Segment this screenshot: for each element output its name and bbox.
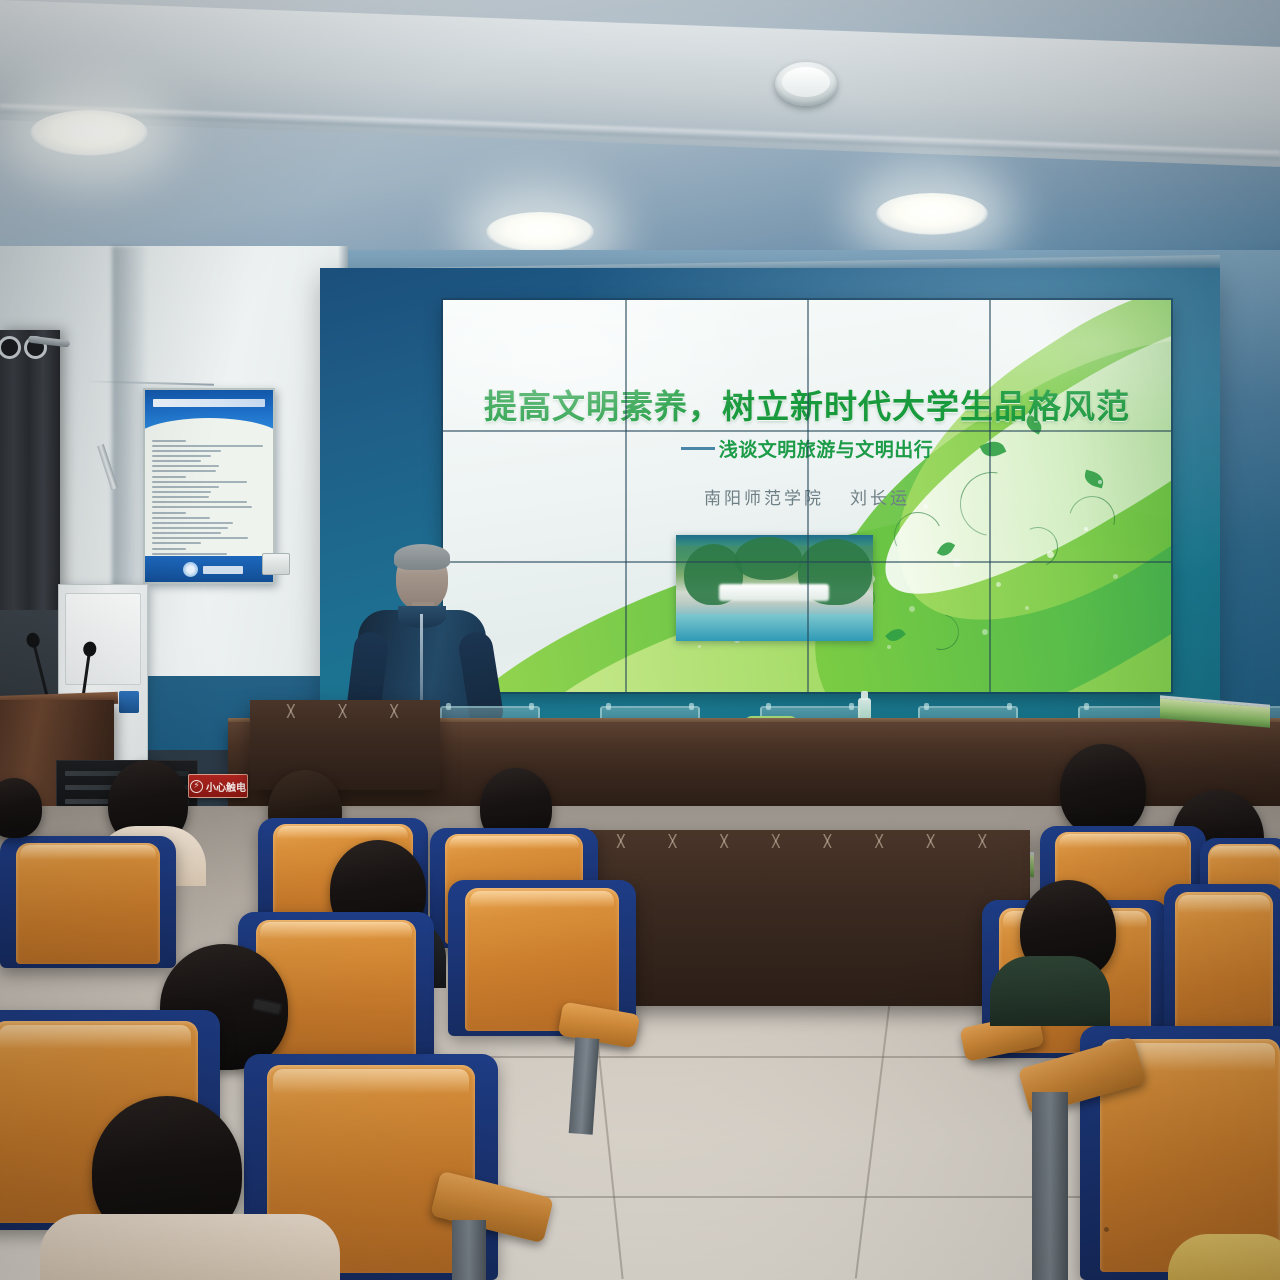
slide-byline: 南阳师范学院刘长运 bbox=[443, 484, 1171, 509]
audience-shoulders bbox=[40, 1214, 340, 1280]
bubble-icon bbox=[698, 645, 701, 648]
audience-head bbox=[1060, 744, 1146, 836]
poster-logo-icon bbox=[183, 562, 198, 577]
notice-board-poster[interactable] bbox=[143, 388, 275, 584]
seat-post bbox=[452, 1220, 486, 1280]
desk-trim-zigzag bbox=[250, 700, 440, 722]
poster-footer-band bbox=[145, 556, 273, 582]
bubble-icon bbox=[909, 606, 915, 612]
audience-shoulders bbox=[990, 956, 1110, 1026]
video-wall-display[interactable]: 提高文明素养，树立新时代大学生品格风范 浅谈文明旅游与文明出行 南阳师范学院刘长… bbox=[443, 300, 1171, 692]
wall-outlet[interactable] bbox=[262, 553, 290, 575]
poster-body-text bbox=[152, 436, 266, 554]
slide-institution: 南阳师范学院 bbox=[704, 489, 824, 509]
seat-post bbox=[1032, 1092, 1068, 1280]
audience-shoulders bbox=[1168, 1234, 1280, 1280]
slide-inset-photo bbox=[676, 535, 873, 641]
screen-glare bbox=[443, 300, 778, 457]
lecture-hall-scene: 提高文明素养，树立新时代大学生品格风范 浅谈文明旅游与文明出行 南阳师范学院刘长… bbox=[0, 0, 1280, 1280]
ceiling-downlight bbox=[486, 212, 594, 252]
bubble-icon bbox=[953, 559, 961, 567]
presentation-slide: 提高文明素养，树立新时代大学生品格风范 浅谈文明旅游与文明出行 南阳师范学院刘长… bbox=[443, 300, 1171, 692]
subtitle-dash-icon bbox=[681, 447, 715, 450]
desk-row bbox=[590, 830, 1030, 1006]
status-badge: ⚡ 小心触电 bbox=[188, 774, 248, 798]
poster-title-bar bbox=[153, 399, 265, 407]
bubble-icon bbox=[887, 645, 891, 649]
auditorium-seat[interactable] bbox=[1164, 884, 1280, 1048]
poster-header-band bbox=[145, 390, 273, 430]
desk-row bbox=[250, 700, 440, 790]
photo-water bbox=[676, 614, 873, 642]
ac-front-panel bbox=[65, 593, 141, 685]
presenter-hair bbox=[394, 544, 450, 570]
ceiling-downlight bbox=[876, 193, 988, 235]
photo-foliage bbox=[735, 537, 802, 579]
slide-title: 提高文明素养，树立新时代大学生品格风范 bbox=[443, 380, 1171, 428]
photo-waterfall bbox=[719, 584, 829, 601]
poster-logo-text bbox=[203, 566, 243, 574]
electric-shock-icon: ⚡ bbox=[190, 780, 203, 793]
desk-trim-zigzag bbox=[590, 830, 1030, 852]
warning-sign-label: 小心触电 bbox=[206, 779, 246, 794]
curtain-ring-icon bbox=[0, 336, 21, 359]
ac-badge-icon bbox=[119, 691, 139, 713]
ceiling-soffit bbox=[0, 0, 1280, 167]
bubble-icon bbox=[982, 629, 988, 635]
slide-subtitle: 浅谈文明旅游与文明出行 bbox=[443, 435, 1171, 462]
auditorium-seat[interactable] bbox=[0, 836, 176, 968]
slide-subtitle-text: 浅谈文明旅游与文明出行 bbox=[719, 439, 934, 461]
smoke-detector-icon bbox=[775, 62, 837, 106]
slide-presenter: 刘长运 bbox=[850, 489, 910, 509]
ceiling-downlight bbox=[30, 110, 148, 156]
